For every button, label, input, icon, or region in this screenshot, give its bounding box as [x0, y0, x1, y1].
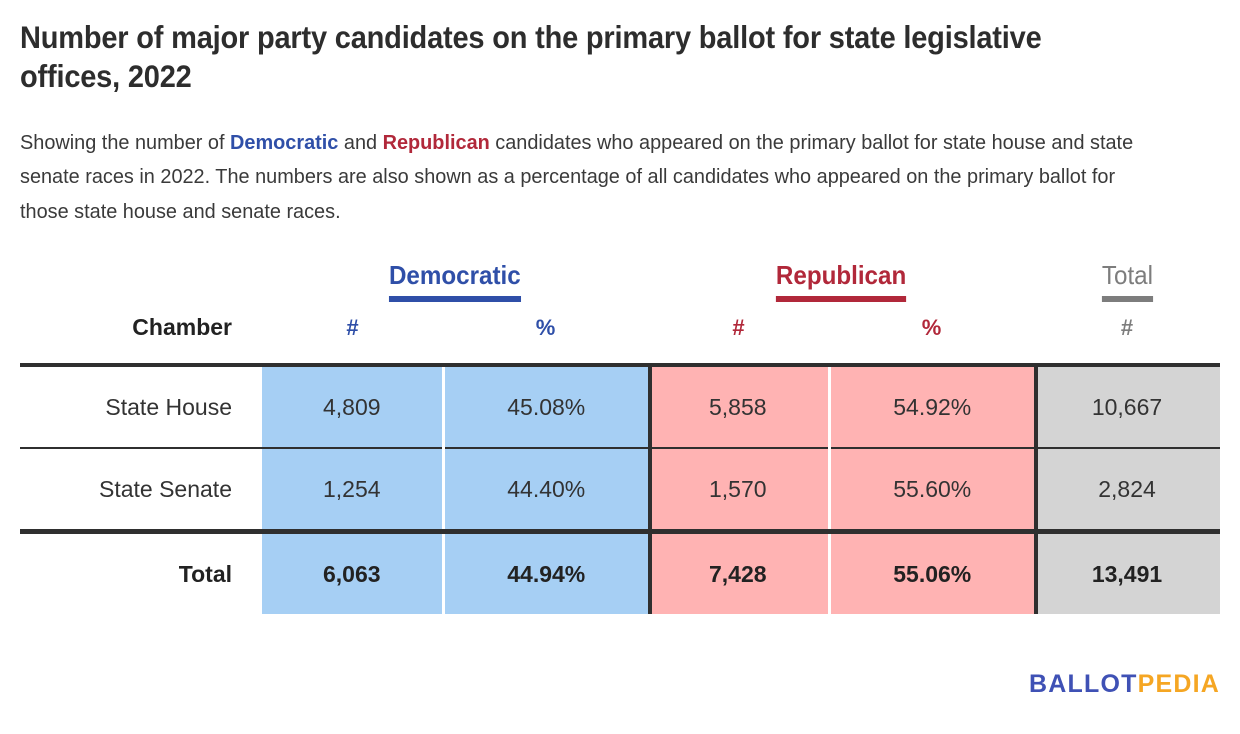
row-label-state-senate: State Senate	[20, 448, 262, 532]
cell-state-senate-republican-number: 1,570	[648, 448, 829, 532]
cell-state-house-democratic-number: 4,809	[262, 365, 443, 448]
column-header-chamber: Chamber	[20, 314, 262, 365]
group-header-row: Democratic Republican Total	[20, 262, 1220, 314]
column-header-total-number: #	[1034, 314, 1220, 365]
column-header-republican-number: #	[648, 314, 829, 365]
table-row: State House 4,809 45.08% 5,858 54.92% 10…	[20, 365, 1220, 448]
page-subtitle: Showing the number of Democratic and Rep…	[20, 126, 1160, 229]
cell-state-senate-republican-percent: 55.60%	[829, 448, 1034, 532]
cell-state-senate-democratic-percent: 44.40%	[443, 448, 648, 532]
row-label-total: Total	[20, 532, 262, 615]
table-total-row: Total 6,063 44.94% 7,428 55.06% 13,491	[20, 532, 1220, 615]
row-label-state-house: State House	[20, 365, 262, 448]
column-header-democratic-percent: %	[443, 314, 648, 365]
column-header-republican-percent: %	[829, 314, 1034, 365]
subtitle-republican-label: Republican	[383, 131, 490, 154]
group-header-total: Total	[1034, 262, 1220, 314]
cell-state-senate-democratic-number: 1,254	[262, 448, 443, 532]
sub-header-row: Chamber # % # % #	[20, 314, 1220, 365]
table-body: State House 4,809 45.08% 5,858 54.92% 10…	[20, 365, 1220, 614]
page-title: Number of major party candidates on the …	[20, 18, 1129, 97]
cell-total-republican-percent: 55.06%	[829, 532, 1034, 615]
ballotpedia-logo: BALLOTPEDIA	[1029, 670, 1220, 699]
group-header-democratic-label: Democratic	[389, 262, 521, 302]
cell-state-house-republican-number: 5,858	[648, 365, 829, 448]
group-header-total-label: Total	[1101, 262, 1152, 302]
cell-state-house-democratic-percent: 45.08%	[443, 365, 648, 448]
table-head: Democratic Republican Total Chamber # % …	[20, 262, 1220, 365]
cell-total-democratic-number: 6,063	[262, 532, 443, 615]
group-header-republican: Republican	[648, 262, 1034, 314]
subtitle-democratic-label: Democratic	[230, 131, 338, 154]
cell-state-house-total-number: 10,667	[1034, 365, 1220, 448]
cell-state-house-republican-percent: 54.92%	[829, 365, 1034, 448]
subtitle-text-part1: Showing the number of	[20, 131, 230, 154]
table-row: State Senate 1,254 44.40% 1,570 55.60% 2…	[20, 448, 1220, 532]
logo-ballot-text: BALLOT	[1029, 670, 1138, 698]
subtitle-text-part2: and	[338, 131, 382, 154]
cell-total-total-number: 13,491	[1034, 532, 1220, 615]
candidates-table: Democratic Republican Total Chamber # % …	[20, 262, 1220, 614]
logo-pedia-text: PEDIA	[1138, 670, 1220, 698]
column-header-democratic-number: #	[262, 314, 443, 365]
group-header-spacer	[20, 262, 262, 314]
group-header-democratic: Democratic	[262, 262, 648, 314]
cell-total-democratic-percent: 44.94%	[443, 532, 648, 615]
infographic-page: Number of major party candidates on the …	[0, 0, 1240, 734]
group-header-republican-label: Republican	[776, 262, 906, 302]
cell-state-senate-total-number: 2,824	[1034, 448, 1220, 532]
candidates-table-wrapper: Democratic Republican Total Chamber # % …	[20, 262, 1220, 614]
cell-total-republican-number: 7,428	[648, 532, 829, 615]
